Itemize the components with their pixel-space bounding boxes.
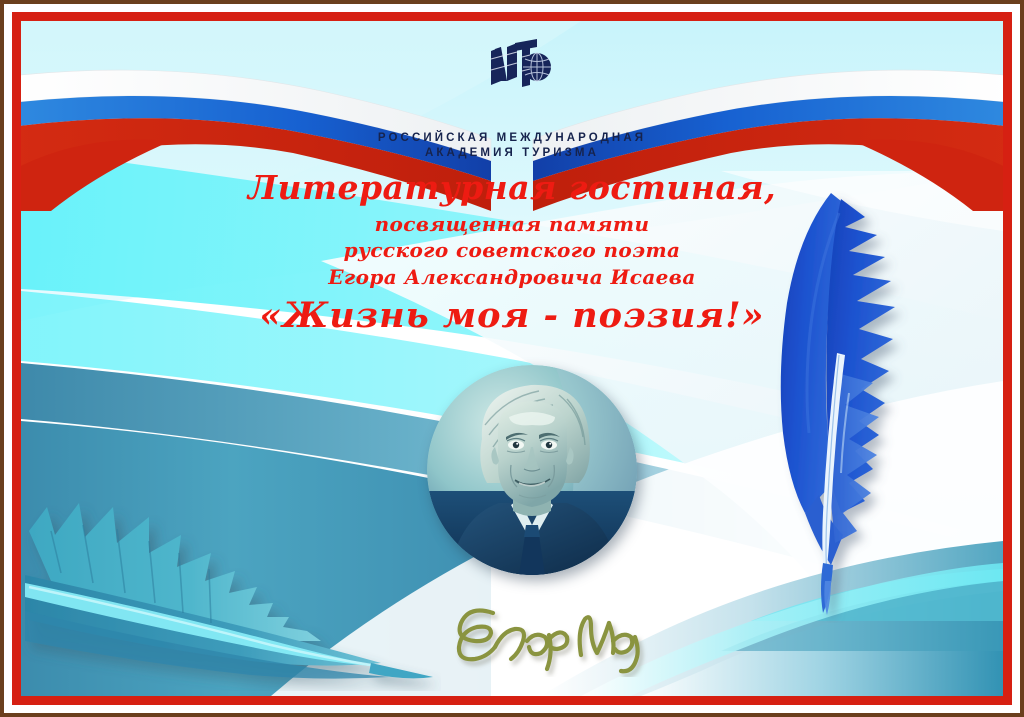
signature-egor-isaev [441, 597, 671, 677]
rmat-logo-icon [485, 37, 555, 99]
title-block: Литературная гостиная, посвященная памят… [21, 171, 1003, 336]
poster-canvas: РОССИЙСКАЯ МЕЖДУНАРОДНАЯ АКАДЕМИЯ ТУРИЗМ… [21, 21, 1003, 696]
dedication-line-2: русского советского поэта [21, 237, 1003, 264]
dedication-line-3: Егора Александровича Исаева [21, 264, 1003, 291]
event-quote: «Жизнь моя - поэзия!» [21, 297, 1003, 336]
dedication-line-1: посвященная памяти [21, 211, 1003, 238]
portrait-egor-isaev [427, 365, 637, 575]
teal-feather [21, 491, 441, 691]
organization-line-1: РОССИЙСКАЯ МЕЖДУНАРОДНАЯ [21, 131, 1003, 146]
event-title: Литературная гостиная, [21, 171, 1003, 206]
organization-name: РОССИЙСКАЯ МЕЖДУНАРОДНАЯ АКАДЕМИЯ ТУРИЗМ… [21, 131, 1003, 161]
poster: РОССИЙСКАЯ МЕЖДУНАРОДНАЯ АКАДЕМИЯ ТУРИЗМ… [0, 0, 1024, 717]
portrait-image [427, 365, 637, 575]
organization-line-2: АКАДЕМИЯ ТУРИЗМА [21, 146, 1003, 161]
